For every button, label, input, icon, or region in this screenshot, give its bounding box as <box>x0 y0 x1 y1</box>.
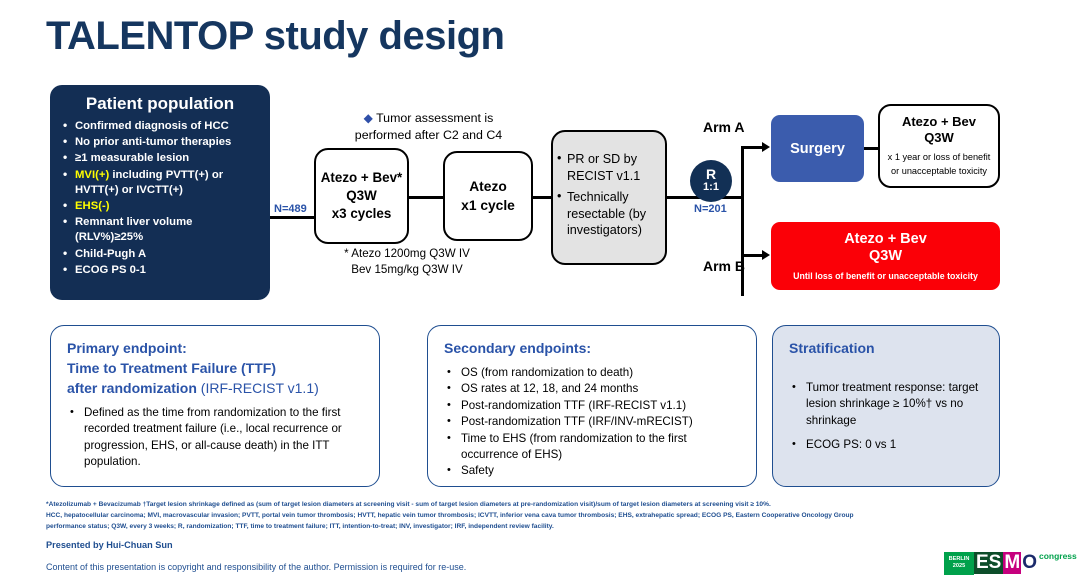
randomization-letter: R <box>706 168 716 181</box>
connector-pop-to-induction <box>270 216 314 219</box>
footnote-line-1: *Atezolizumab + Bevacizumab †Target lesi… <box>46 500 1046 510</box>
esmo-congress-logo: BERLIN 2025 ES M O congress <box>944 551 1077 575</box>
n-label-enrolled: N=489 <box>274 203 307 215</box>
induction-treatment-box: Atezo + Bev* Q3W x3 cycles <box>314 148 409 244</box>
list-item: Remnant liver volume (RLV%)≥25% <box>60 215 260 245</box>
primary-endpoint-heading: Primary endpoint: Time to Treatment Fail… <box>67 338 365 398</box>
stratification-heading: Stratification <box>789 338 985 358</box>
list-item: Child-Pugh A <box>60 247 260 262</box>
list-item: Technically resectable (by investigators… <box>557 189 663 239</box>
footnote-line-2: HCC, hepatocellular carcinoma; MVI, macr… <box>46 511 1046 521</box>
logo-letter-o: O <box>1021 552 1038 574</box>
footnote-line-3: performance status; Q3W, every 3 weeks; … <box>46 522 1046 532</box>
arm-b-label: Arm B <box>703 258 745 274</box>
list-item: PR or SD by RECIST v1.1 <box>557 151 663 184</box>
connector-arm-a <box>741 146 763 149</box>
tumor-assessment-note: ◆ Tumor assessment is performed after C2… <box>316 110 541 144</box>
logo-congress-word: congress <box>1039 551 1077 561</box>
page-title: TALENTOP study design <box>46 14 504 59</box>
primary-endpoint-head-line2: Time to Treatment Failure (TTF) <box>67 358 365 378</box>
patient-population-list: Confirmed diagnosis of HCC No prior anti… <box>60 119 260 278</box>
maintenance-line2: Q3W <box>880 130 998 146</box>
arm-b-sub: Until loss of benefit or unacceptable to… <box>771 271 1000 281</box>
n-label-randomized: N=201 <box>694 203 727 215</box>
connector-induction-to-consolidation <box>409 196 443 199</box>
stratification-panel: Stratification Tumor treatment response:… <box>772 325 1000 487</box>
list-item: Defined as the time from randomization t… <box>67 405 365 471</box>
maintenance-line1: Atezo + Bev <box>880 114 998 130</box>
resectability-criteria-box: PR or SD by RECIST v1.1 Technically rese… <box>551 130 667 265</box>
connector-arm-b <box>741 254 763 257</box>
surgery-box: Surgery <box>771 115 864 182</box>
arm-b-line2: Q3W <box>771 248 1000 265</box>
highlight-ehs: EHS(-) <box>75 200 110 212</box>
arrow-arm-b-icon <box>762 250 770 260</box>
resectability-criteria-list: PR or SD by RECIST v1.1 Technically rese… <box>553 151 665 244</box>
randomization-circle: R 1:1 <box>690 160 732 202</box>
list-item: EHS(-) <box>60 199 260 214</box>
list-item: ≥1 measurable lesion <box>60 151 260 166</box>
berlin-label: BERLIN <box>949 556 970 563</box>
list-item: OS (from randomization to death) <box>444 365 742 381</box>
patient-population-heading: Patient population <box>60 94 260 114</box>
consolidation-treatment-box: Atezo x1 cycle <box>443 151 533 241</box>
list-item: Post-randomization TTF (IRF-RECIST v1.1) <box>444 398 742 414</box>
copyright-notice: Content of this presentation is copyrigh… <box>46 562 466 572</box>
patient-population-box: Patient population Confirmed diagnosis o… <box>50 85 270 300</box>
induction-line1: Atezo + Bev* <box>316 169 407 187</box>
list-item: Safety <box>444 463 742 479</box>
logo-letters-es: ES <box>974 552 1003 574</box>
list-item: ECOG PS 0-1 <box>60 263 260 278</box>
highlight-mvi: MVI(+) <box>75 169 109 181</box>
primary-endpoint-list: Defined as the time from randomization t… <box>67 405 365 471</box>
list-item: No prior anti-tumor therapies <box>60 135 260 150</box>
consolidation-line1: Atezo <box>445 177 531 196</box>
arrow-arm-a-icon <box>762 142 770 152</box>
list-item: MVI(+) including PVTT(+) or HVTT(+) or I… <box>60 168 260 198</box>
assessment-line2: performed after C2 and C4 <box>355 128 502 142</box>
stratification-list: Tumor treatment response: target lesion … <box>789 380 985 454</box>
list-item: Post-randomization TTF (IRF/INV-mRECIST) <box>444 414 742 430</box>
list-item: ECOG PS: 0 vs 1 <box>789 437 985 453</box>
connector-consolidation-to-eligibility <box>533 196 551 199</box>
induction-line2: Q3W <box>316 187 407 205</box>
berlin-2025-badge: BERLIN 2025 <box>944 552 974 575</box>
induction-line3: x3 cycles <box>316 205 407 223</box>
arm-a-label: Arm A <box>703 119 745 135</box>
arm-b-treatment-box: Atezo + Bev Q3W Until loss of benefit or… <box>771 222 1000 290</box>
list-item: Confirmed diagnosis of HCC <box>60 119 260 134</box>
arm-b-line1: Atezo + Bev <box>771 231 1000 248</box>
secondary-endpoints-list: OS (from randomization to death) OS rate… <box>444 365 742 480</box>
slide-root: TALENTOP study design Patient population… <box>0 0 1080 584</box>
presented-by: Presented by Hui-Chuan Sun <box>46 540 173 550</box>
year-label: 2025 <box>953 563 965 570</box>
secondary-endpoints-panel: Secondary endpoints: OS (from randomizat… <box>427 325 757 487</box>
primary-endpoint-panel: Primary endpoint: Time to Treatment Fail… <box>50 325 380 487</box>
dose-line2: Bev 15mg/kg Q3W IV <box>351 263 462 276</box>
maintenance-sub1: x 1 year or loss of benefit <box>880 151 998 164</box>
list-item: OS rates at 12, 18, and 24 months <box>444 381 742 397</box>
assessment-line1: Tumor assessment is <box>376 111 493 125</box>
maintenance-sub2: or unacceptable toxicity <box>880 165 998 178</box>
dose-line1: * Atezo 1200mg Q3W IV <box>344 247 470 260</box>
diamond-bullet-icon: ◆ <box>364 111 373 125</box>
logo-letter-m: M <box>1003 552 1021 574</box>
maintenance-therapy-box: Atezo + Bev Q3W x 1 year or loss of bene… <box>878 104 1000 188</box>
list-item: Time to EHS (from randomization to the f… <box>444 431 742 464</box>
secondary-endpoints-heading: Secondary endpoints: <box>444 338 742 358</box>
consolidation-line2: x1 cycle <box>445 196 531 215</box>
dose-footnote: * Atezo 1200mg Q3W IV Bev 15mg/kg Q3W IV <box>312 246 502 277</box>
list-item: Tumor treatment response: target lesion … <box>789 380 985 429</box>
primary-endpoint-head-line3: after randomization (IRF-RECIST v1.1) <box>67 378 365 398</box>
primary-endpoint-head-line1: Primary endpoint: <box>67 338 365 358</box>
randomization-ratio: 1:1 <box>703 181 719 194</box>
